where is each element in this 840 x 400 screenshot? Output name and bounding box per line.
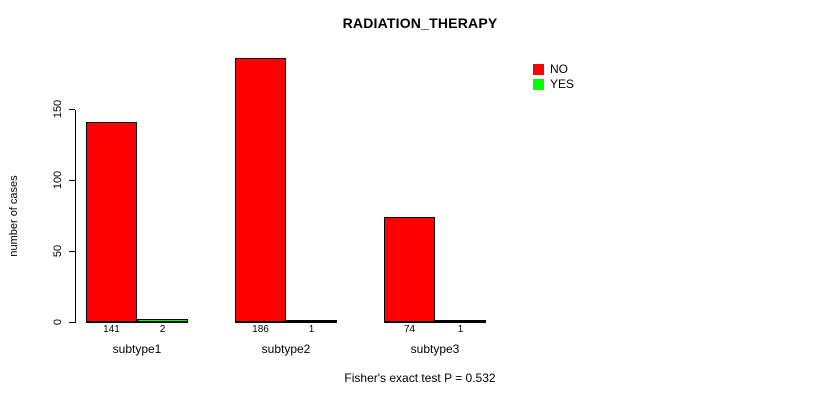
y-axis-tick-label: 50 (52, 245, 64, 257)
y-axis-tick (69, 322, 75, 323)
y-axis-tick-label: 0 (52, 319, 64, 325)
x-axis-group-label-subtype2: subtype2 (262, 342, 311, 356)
x-axis-segment (86, 322, 188, 323)
legend-swatch-yes (533, 79, 544, 90)
legend-swatch-no (533, 64, 544, 75)
bar-value-label: 186 (252, 324, 269, 335)
y-axis-tick-label: 150 (52, 100, 64, 118)
y-axis-tick (69, 251, 75, 252)
y-axis-tick (69, 109, 75, 110)
x-axis-segment (235, 322, 337, 323)
y-axis-tick-label: 100 (52, 171, 64, 189)
chart-title: RADIATION_THERAPY (0, 15, 840, 31)
x-axis-group-label-subtype1: subtype1 (113, 342, 162, 356)
bar-subtype3-yes[interactable] (435, 320, 486, 322)
y-axis-tick (69, 180, 75, 181)
legend-label-no: NO (550, 63, 568, 75)
legend-label-yes: YES (550, 78, 574, 90)
bar-subtype3-no[interactable] (384, 217, 435, 322)
x-axis-group-label-subtype3: subtype3 (411, 342, 460, 356)
legend-item-no[interactable]: NO (533, 62, 574, 76)
y-axis-line (75, 110, 76, 323)
legend-item-yes[interactable]: YES (533, 77, 574, 91)
statistical-test-annotation: Fisher's exact test P = 0.532 (0, 371, 840, 385)
bar-subtype1-no[interactable] (86, 122, 137, 322)
x-axis-segment (384, 322, 486, 323)
chart-canvas: RADIATION_THERAPY number of cases 050100… (0, 0, 840, 400)
bar-subtype2-no[interactable] (235, 58, 286, 322)
y-axis-title: number of cases (8, 175, 20, 256)
bar-subtype1-yes[interactable] (137, 319, 188, 322)
bar-subtype2-yes[interactable] (286, 320, 337, 322)
chart-legend: NO YES (533, 62, 574, 92)
bar-value-label: 141 (103, 324, 120, 335)
bar-value-label: 74 (404, 324, 415, 335)
bar-value-label: 2 (160, 324, 166, 335)
bar-value-label: 1 (458, 324, 464, 335)
bar-value-label: 1 (309, 324, 315, 335)
